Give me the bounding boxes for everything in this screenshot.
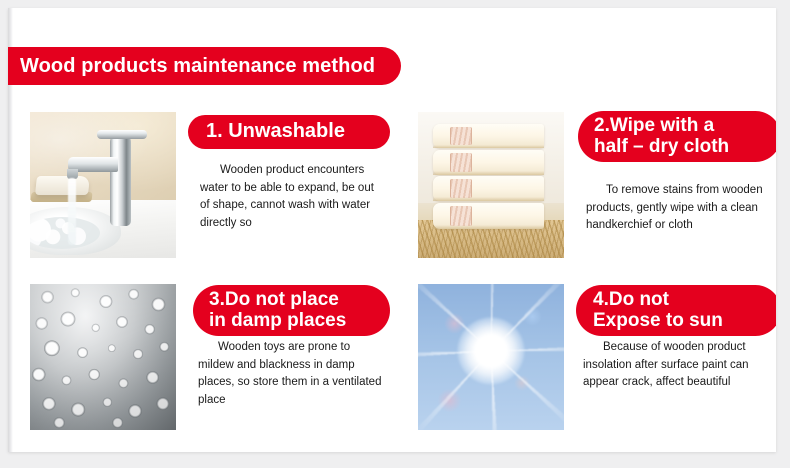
bright-sun-photo: [418, 284, 564, 430]
soap-bar: [35, 176, 90, 195]
towel-third: [433, 176, 544, 201]
towel-band: [450, 179, 472, 198]
faucet-handle: [97, 130, 147, 139]
water-droplets-photo: [30, 284, 176, 430]
item-2-heading-pill: 2.Wipe with a half – dry cloth: [578, 111, 776, 162]
item-4-heading-pill: 4.Do not Expose to sun: [576, 285, 776, 336]
towel-edge: [433, 225, 544, 229]
water-stream: [68, 178, 76, 245]
towel-bottom: [433, 203, 544, 229]
page-title: Wood products maintenance method: [20, 56, 375, 76]
faucet-column: [110, 135, 130, 226]
item-2-heading-text: 2.Wipe with a half – dry cloth: [594, 116, 729, 156]
towel-band: [450, 127, 472, 146]
item-3-heading-pill: 3.Do not place in damp places: [193, 285, 390, 336]
towel-band: [450, 153, 472, 172]
item-3-heading-text: 3.Do not place in damp places: [209, 290, 346, 330]
page-title-banner: Wood products maintenance method: [8, 47, 401, 85]
towel-edge: [433, 197, 544, 201]
document-page: Wood products maintenance method 1. Unwa…: [8, 8, 776, 452]
item-4-body-text: Because of wooden product insolation aft…: [583, 339, 769, 392]
screenshot-canvas: Wood products maintenance method 1. Unwa…: [0, 0, 790, 468]
towel-edge: [433, 145, 544, 149]
towel-top: [433, 124, 544, 149]
stacked-towels-photo: [418, 112, 564, 258]
faucet-running-water-photo: [30, 112, 176, 258]
item-4-heading-text: 4.Do not Expose to sun: [593, 290, 723, 330]
metal-sheen: [30, 284, 176, 430]
item-2-body-text: To remove stains from wooden products, g…: [586, 182, 772, 235]
item-1-heading-text: 1. Unwashable: [206, 121, 345, 142]
towel-edge: [433, 171, 544, 175]
item-1-heading-pill: 1. Unwashable: [188, 115, 390, 149]
towel-second: [433, 150, 544, 175]
sun-core: [457, 318, 524, 385]
item-1-body-text: Wooden product encounters water to be ab…: [200, 162, 380, 232]
item-3-body-text: Wooden toys are prone to mildew and blac…: [198, 339, 388, 409]
towel-band: [450, 206, 472, 226]
